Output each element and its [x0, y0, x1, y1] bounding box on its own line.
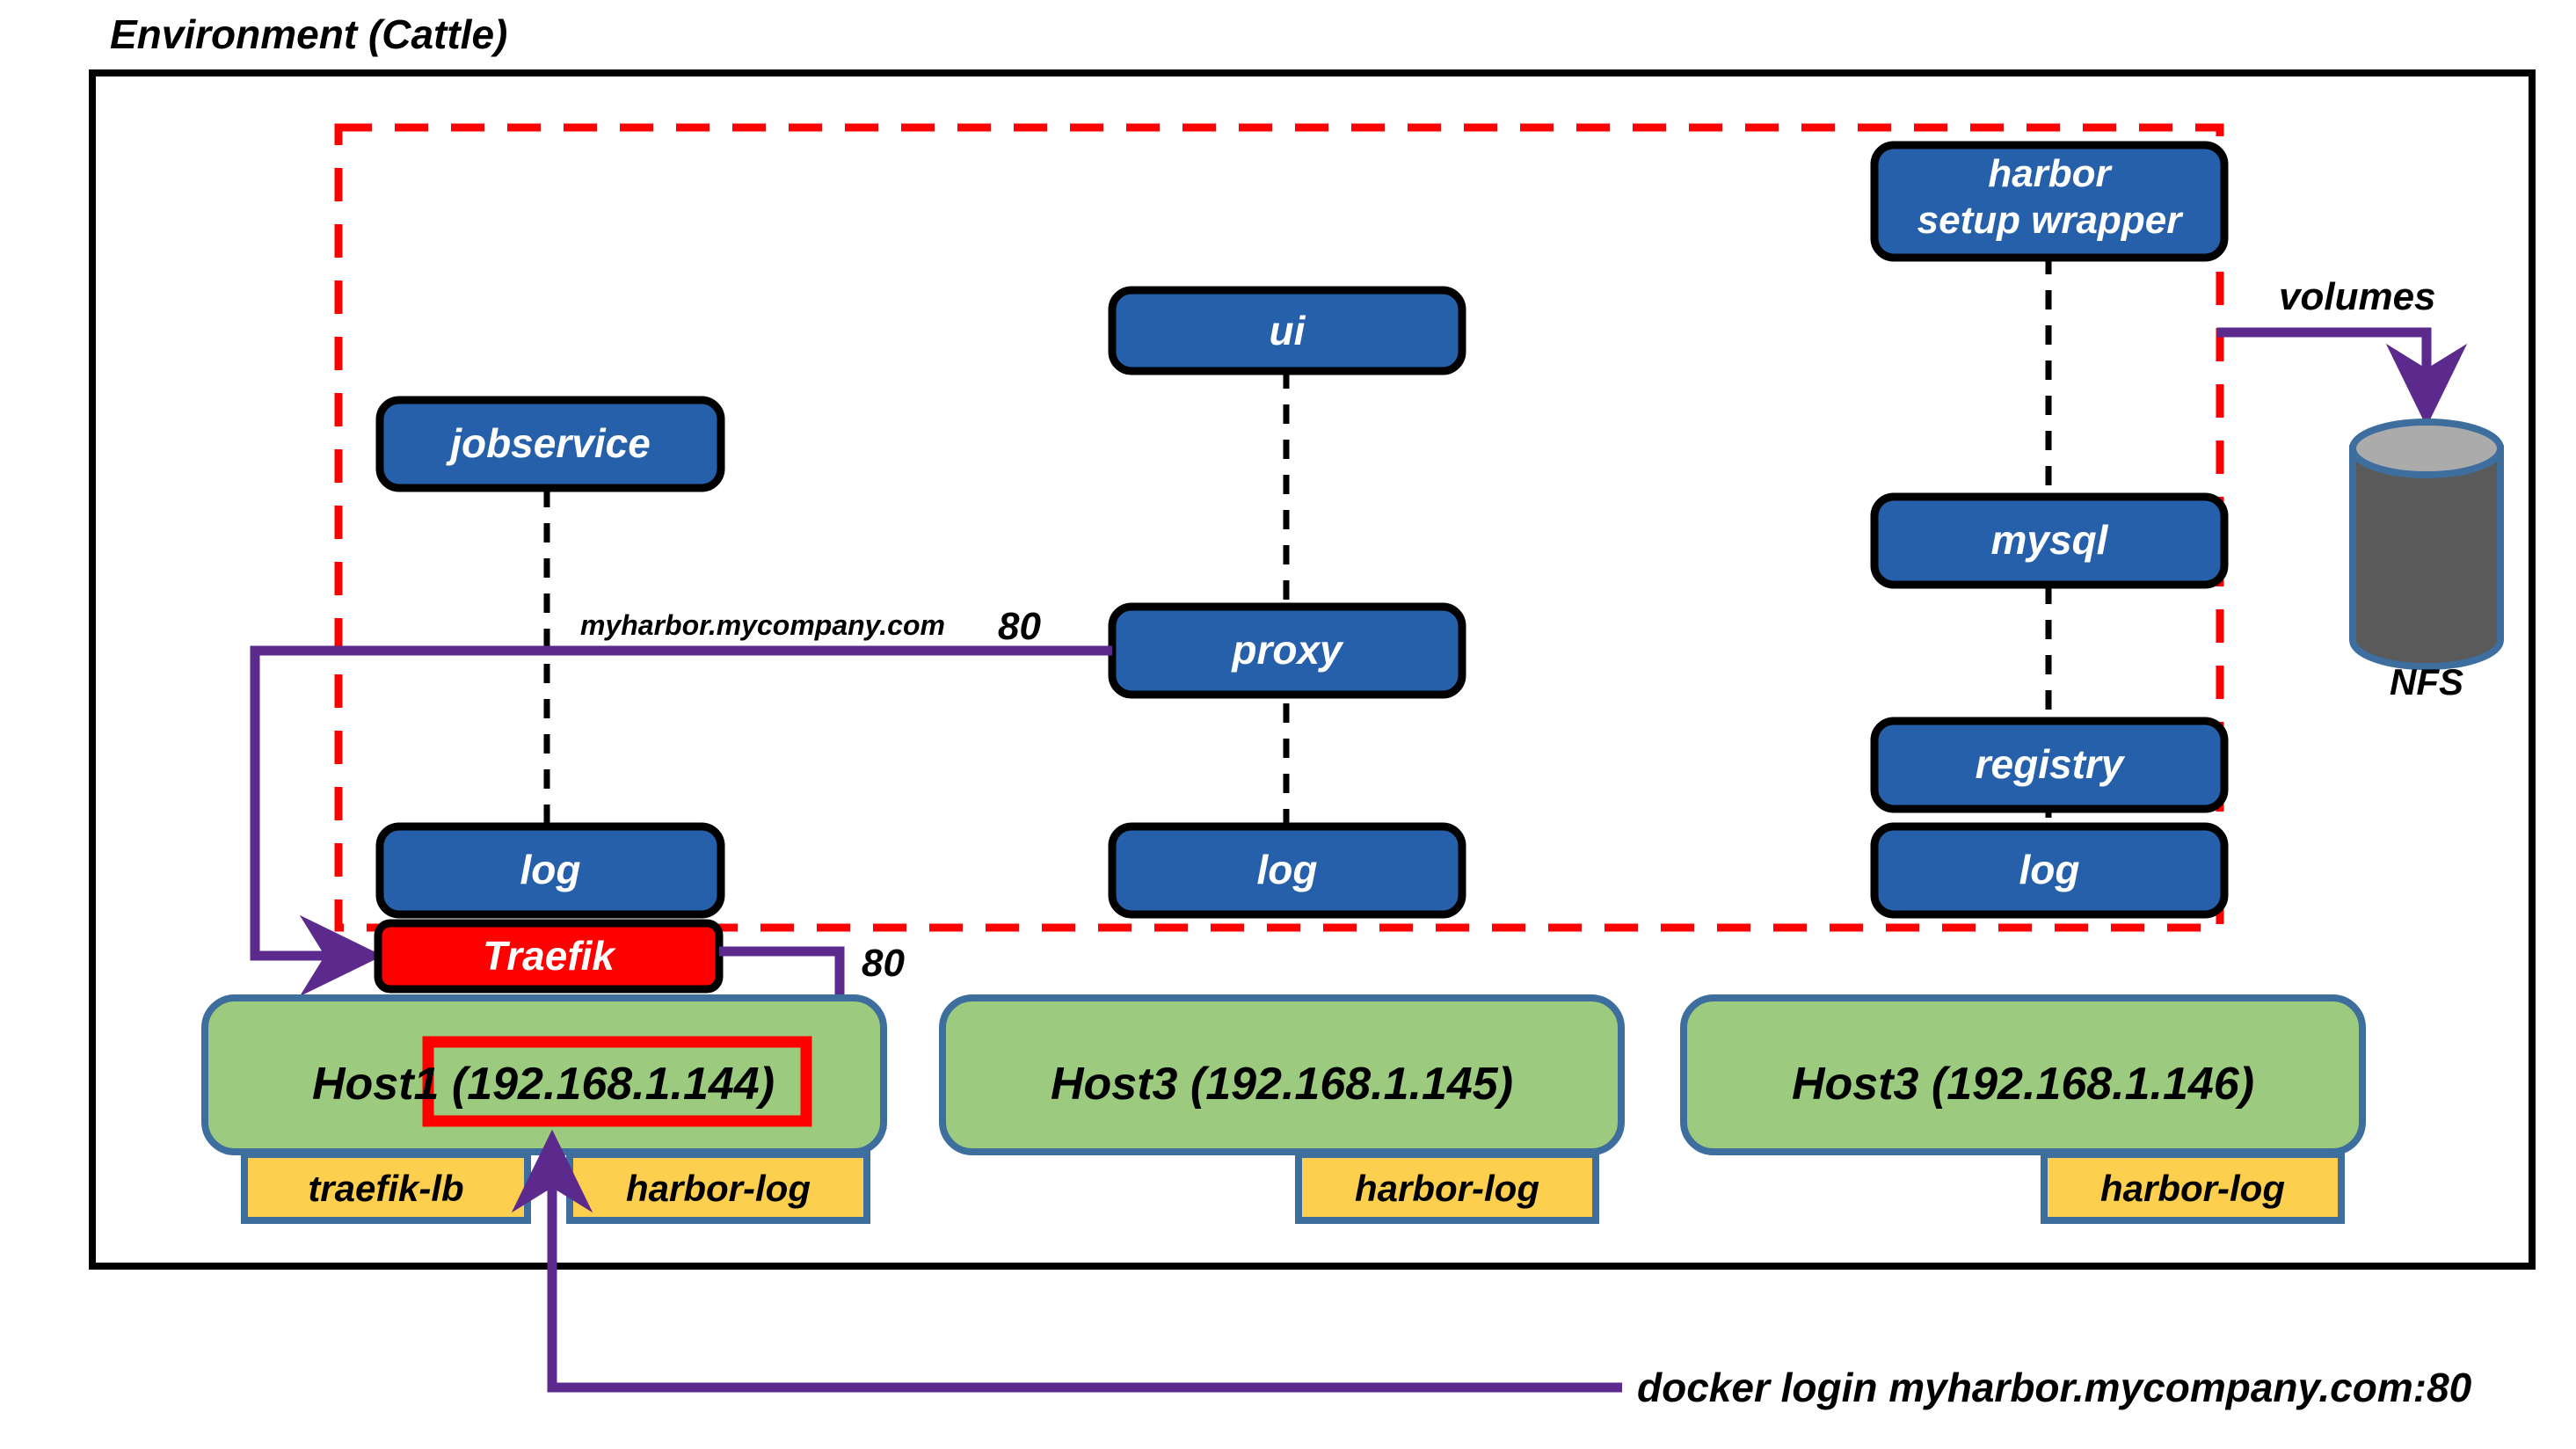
docker-login-command: docker login myharbor.mycompany.com:80 — [1637, 1365, 2472, 1410]
host-label-1: Host1 (192.168.1.144) — [312, 1059, 775, 1110]
traefik-port-label: 80 — [862, 942, 905, 985]
hostname-edge-label: myharbor.mycompany.com — [580, 609, 945, 641]
service-label-ui: ui — [1270, 308, 1306, 353]
nfs-cylinder-body — [2353, 448, 2500, 666]
tag-label-harbor-log-2: harbor-log — [1355, 1168, 1539, 1209]
traefik-label: Traefik — [483, 933, 616, 979]
service-label-mysql: mysql — [1991, 517, 2109, 563]
service-label-harbor-setup-wrapper-line1: harbor — [1988, 152, 2113, 195]
volumes-label: volumes — [2279, 275, 2436, 318]
service-label-proxy: proxy — [1230, 627, 1344, 673]
tag-label-harbor-log-1: harbor-log — [626, 1168, 811, 1209]
tag-label-harbor-log-3: harbor-log — [2100, 1168, 2285, 1209]
diagram-canvas: jobservice log ui proxy log harbor setup… — [0, 0, 2576, 1449]
service-label-registry-log: log — [2019, 847, 2080, 892]
service-label-proxy-log: log — [1257, 847, 1318, 892]
service-label-registry: registry — [1976, 741, 2126, 787]
service-label-harbor-setup-wrapper-line2: setup wrapper — [1917, 199, 2185, 242]
architecture-diagram: jobservice log ui proxy log harbor setup… — [0, 0, 2576, 1449]
service-label-jobservice: jobservice — [446, 420, 651, 466]
tag-label-traefik-lb: traefik-lb — [308, 1168, 463, 1209]
proxy-port-label: 80 — [998, 605, 1041, 648]
host-label-3: Host3 (192.168.1.146) — [1792, 1059, 2254, 1110]
nfs-label: NFS — [2390, 661, 2463, 703]
service-label-jobservice-log: log — [520, 847, 581, 892]
page-title: Environment (Cattle) — [110, 11, 507, 57]
host-label-2: Host3 (192.168.1.145) — [1051, 1059, 1513, 1110]
nfs-cylinder-top — [2353, 422, 2500, 475]
